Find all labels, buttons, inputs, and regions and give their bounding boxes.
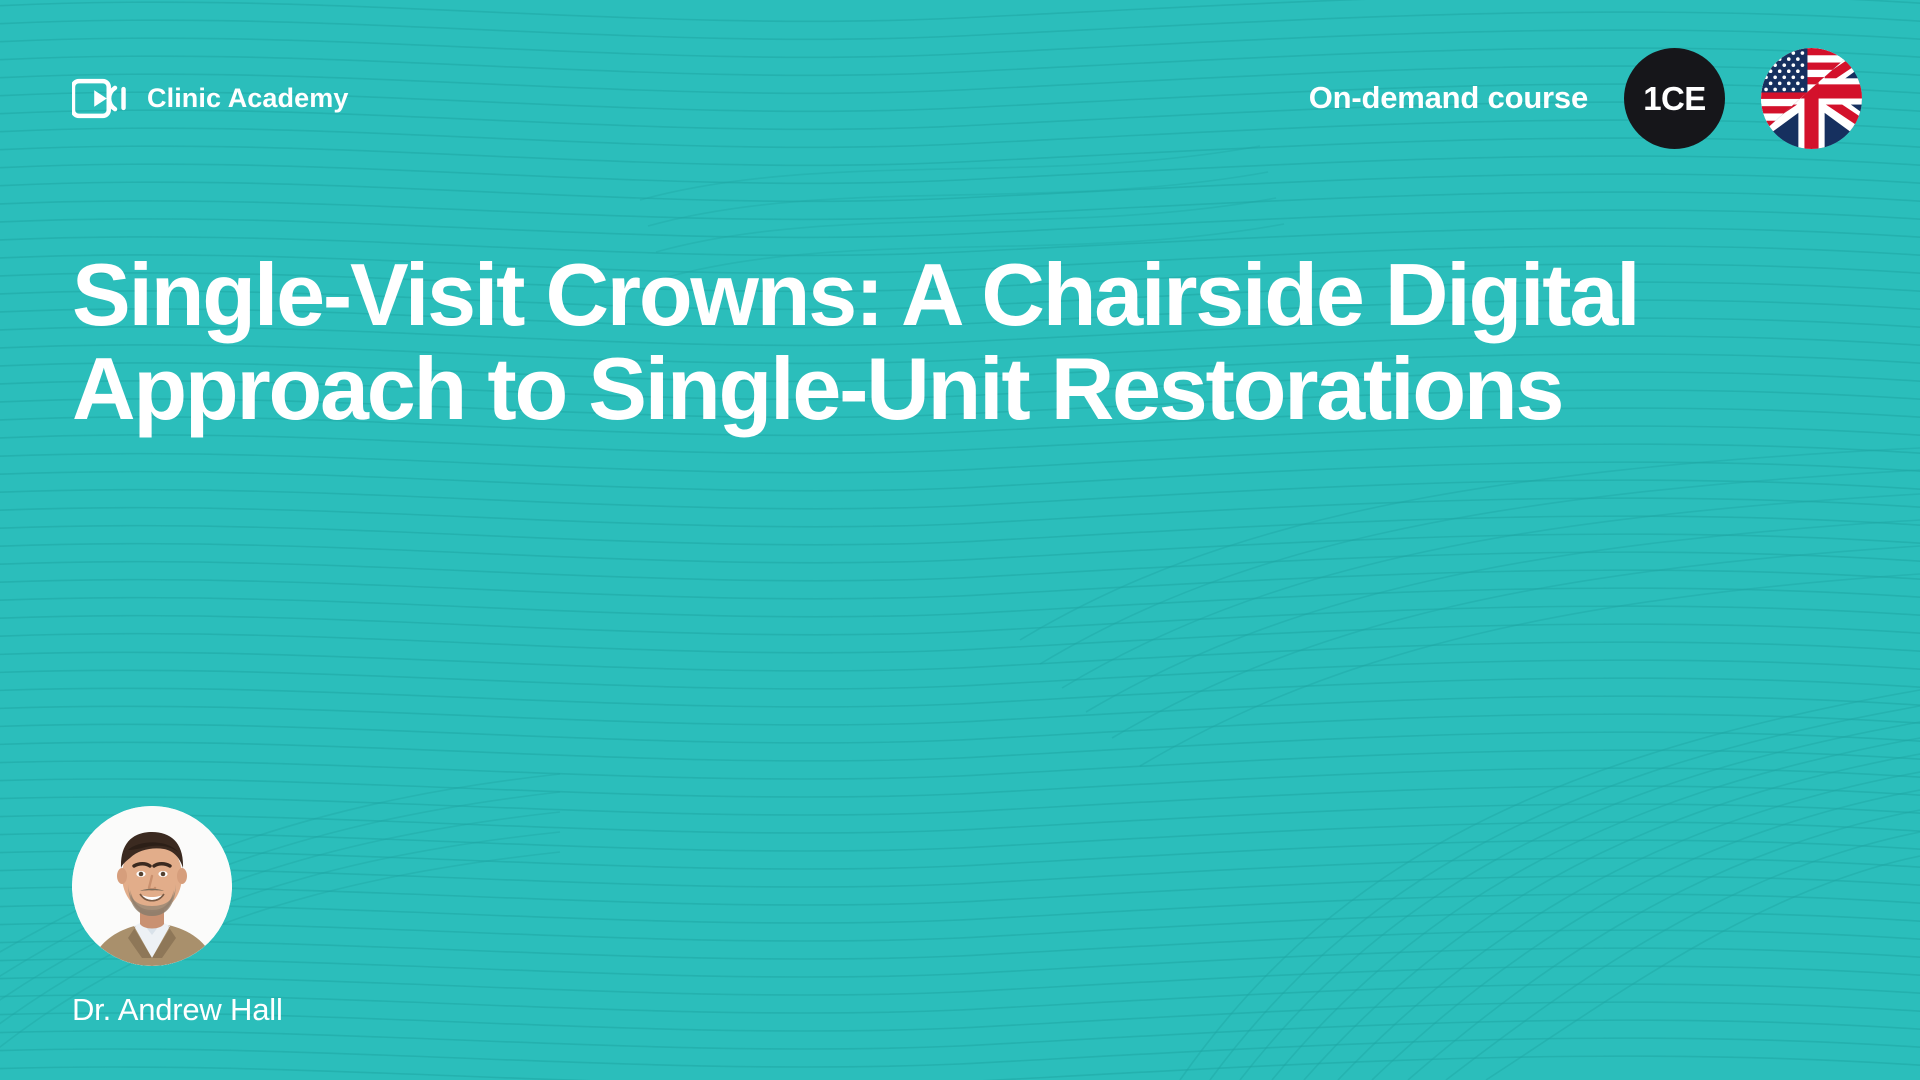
ce-credit-label: 1CE	[1643, 82, 1705, 115]
course-title: Single-Visit Crowns: A Chairside Digital…	[72, 248, 1848, 436]
us-uk-combined-flag-icon	[1761, 48, 1862, 149]
ce-credit-badge: 1CE	[1624, 48, 1725, 149]
video-camera-icon	[72, 76, 130, 121]
slide-header: Clinic Academy On-demand course 1CE	[0, 0, 1920, 196]
brand-name: Clinic Academy	[147, 83, 348, 114]
course-title-slide: Clinic Academy On-demand course 1CE	[0, 0, 1920, 1080]
course-type-label: On-demand course	[1309, 80, 1588, 116]
presenter-name: Dr. Andrew Hall	[72, 992, 632, 1028]
title-block: Single-Visit Crowns: A Chairside Digital…	[72, 248, 1848, 436]
presenter-block: Dr. Andrew Hall	[72, 806, 632, 1028]
header-right-group: On-demand course 1CE	[1309, 48, 1862, 149]
presenter-avatar	[72, 806, 232, 966]
brand-logo[interactable]: Clinic Academy	[72, 76, 348, 121]
